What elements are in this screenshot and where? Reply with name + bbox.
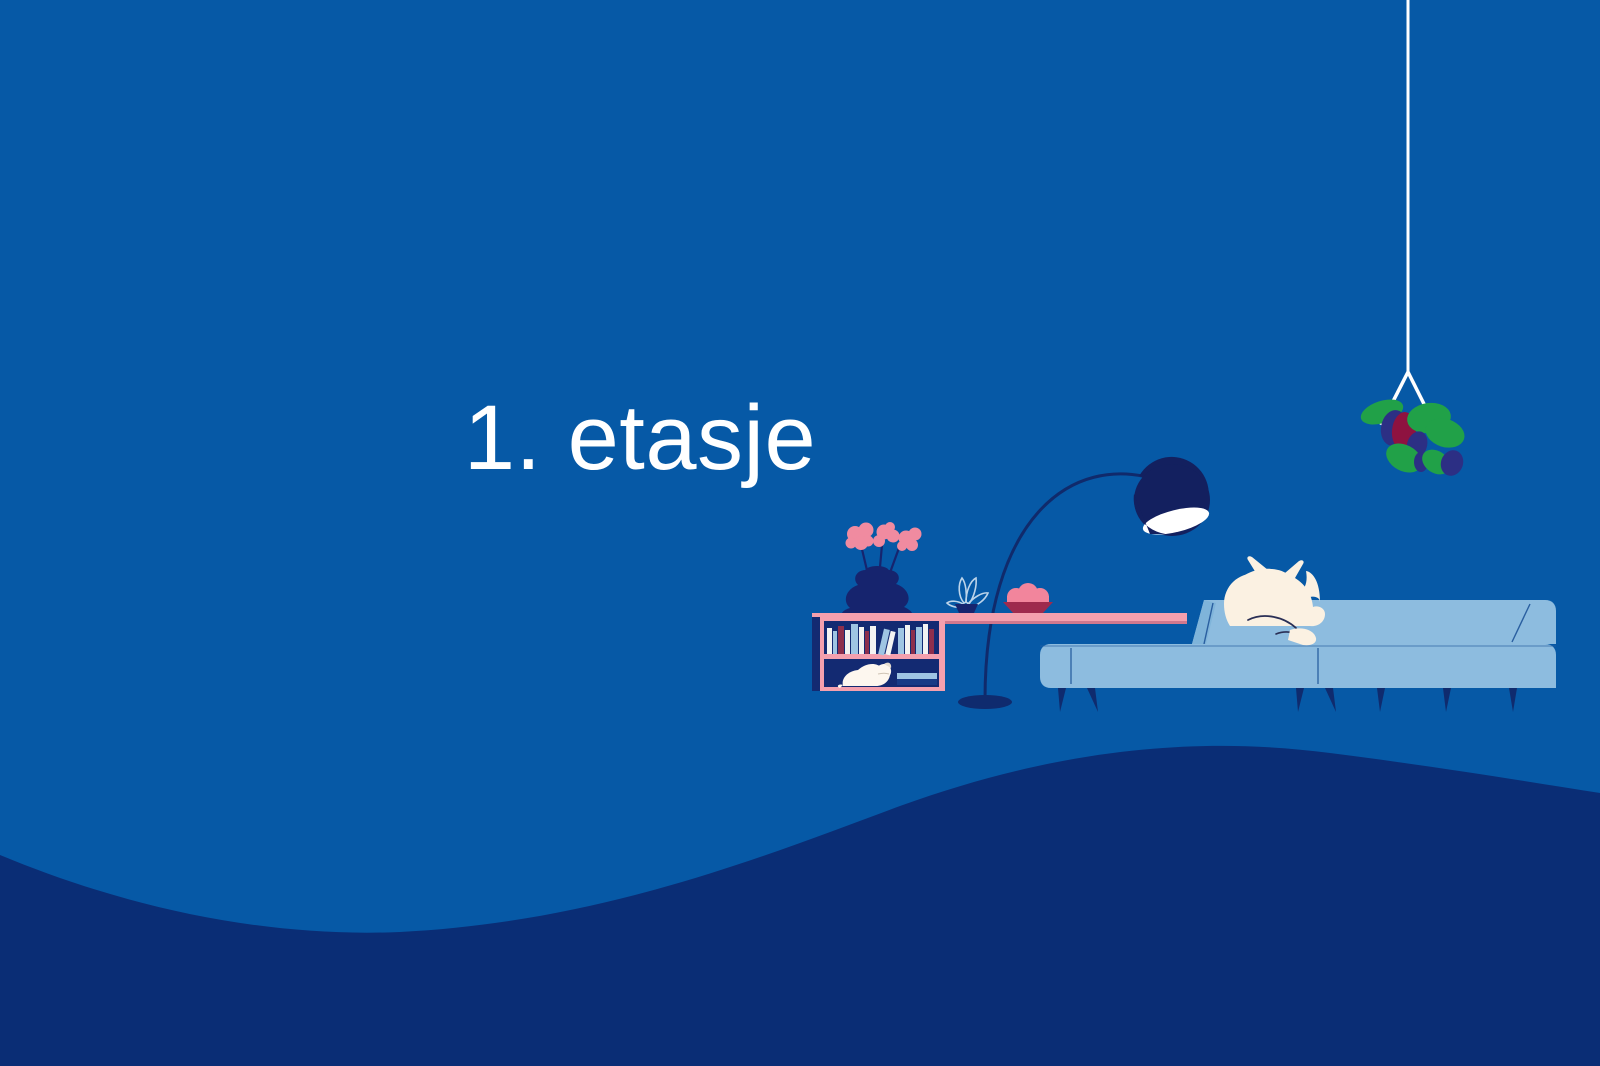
vase-neck xyxy=(865,566,889,576)
book-spine xyxy=(923,624,928,654)
book-spine xyxy=(859,627,864,654)
bookshelf xyxy=(812,613,945,691)
book-spine xyxy=(905,625,910,654)
sofa-seat xyxy=(1040,644,1556,688)
book-spine xyxy=(911,630,915,654)
book-spine xyxy=(870,626,876,654)
slide-canvas: 1. etasje xyxy=(0,0,1600,1066)
living-room-illustration xyxy=(0,0,1600,1066)
stacked-book xyxy=(897,679,937,685)
book-spine xyxy=(838,626,844,654)
lamp-base-plate-icon xyxy=(962,697,1008,703)
book-spine xyxy=(851,624,858,654)
book-spine xyxy=(845,630,850,654)
book-spine xyxy=(865,631,869,654)
book-spine xyxy=(827,628,832,654)
bookshelf-side-panel xyxy=(812,617,820,691)
plant-pot xyxy=(955,604,978,613)
book-spine xyxy=(898,628,904,654)
book-spine xyxy=(833,631,837,654)
book-spine xyxy=(929,629,934,654)
book-spine xyxy=(916,627,922,654)
stacked-book xyxy=(897,673,937,679)
